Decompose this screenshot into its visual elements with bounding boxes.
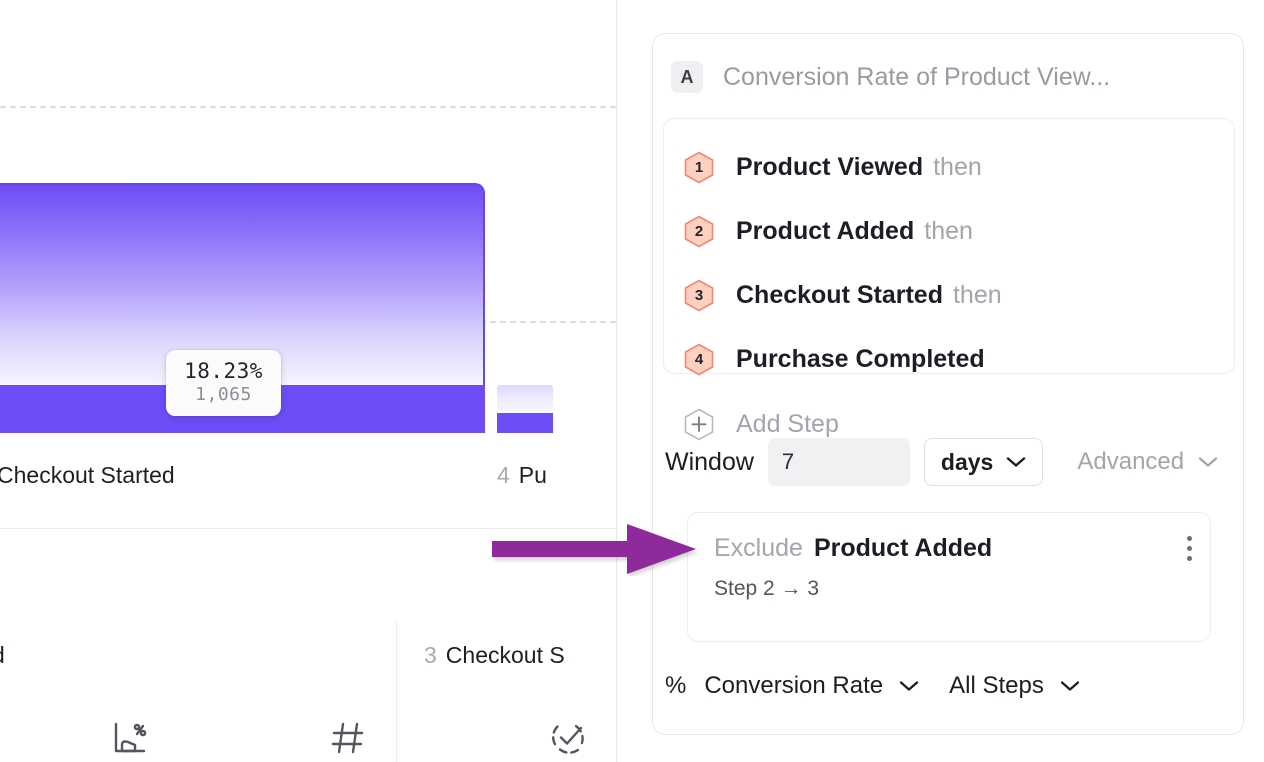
x-axis-label-index: 4 — [497, 462, 510, 488]
exclude-rule-header: Exclude Product Added — [688, 513, 1210, 583]
funnel-step-1[interactable]: 1 Product Viewed then — [664, 135, 1234, 199]
chevron-down-icon — [899, 680, 919, 692]
pane-divider — [616, 0, 617, 762]
funnel-chart-pane: 18.23% 1,065 Checkout Started 4Pu d 3Che… — [0, 0, 616, 762]
metric-select[interactable]: Conversion Rate — [704, 672, 919, 700]
step-event-name: Checkout Started — [736, 281, 943, 310]
annotation-arrow — [492, 522, 700, 576]
conversion-window-row: Window days Advanced — [665, 438, 1218, 486]
lower-card-index: 3 — [424, 642, 437, 668]
window-unit-select[interactable]: days — [924, 438, 1043, 486]
funnel-config-panel: A Conversion Rate of Product View... 1 P… — [652, 33, 1244, 735]
step-number: 2 — [684, 215, 714, 248]
x-axis-label-text: Pu — [519, 462, 547, 488]
app-screen: 18.23% 1,065 Checkout Started 4Pu d 3Che… — [0, 0, 1264, 762]
gridline-upper — [0, 106, 616, 108]
funnel-step-4[interactable]: 4 Purchase Completed — [664, 327, 1234, 391]
step-connector: then — [924, 217, 973, 246]
step-number: 3 — [684, 279, 714, 312]
advanced-toggle[interactable]: Advanced — [1077, 448, 1218, 476]
bar-solid-base — [497, 413, 553, 433]
step-event-name: Purchase Completed — [736, 345, 985, 374]
step-number-hexagon-icon: 4 — [684, 343, 714, 376]
exclude-rule-card[interactable]: Exclude Product Added Step 2 → 3 — [687, 512, 1211, 642]
window-value-input[interactable] — [768, 438, 910, 486]
bar-gradient-body — [497, 385, 553, 413]
funnel-step-3[interactable]: 3 Checkout Started then — [664, 263, 1234, 327]
lower-card-left-label: d — [0, 642, 5, 669]
panel-footer-controls: % Conversion Rate All Steps — [665, 672, 1080, 700]
percent-icon: % — [665, 672, 686, 700]
step-number-hexagon-icon: 2 — [684, 215, 714, 248]
step-number-hexagon-icon: 1 — [684, 151, 714, 184]
exclude-event-name: Product Added — [814, 534, 992, 563]
circle-check-icon[interactable] — [548, 716, 590, 762]
chart-percent-icon[interactable] — [110, 718, 150, 762]
funnel-steps-card: 1 Product Viewed then 2 Product Added th… — [663, 118, 1235, 374]
scope-value: All Steps — [949, 672, 1044, 700]
tooltip-percent: 18.23% — [184, 359, 263, 383]
funnel-step-2[interactable]: 2 Product Added then — [664, 199, 1234, 263]
metric-value: Conversion Rate — [704, 672, 883, 700]
step-connector: then — [953, 281, 1002, 310]
series-letter-badge: A — [671, 61, 703, 93]
chevron-down-icon — [1198, 456, 1218, 468]
funnel-bar-purchase-completed[interactable] — [497, 385, 553, 433]
lower-cards-divider — [396, 622, 397, 762]
advanced-label: Advanced — [1077, 448, 1184, 476]
exclude-keyword: Exclude — [714, 534, 803, 563]
panel-title[interactable]: Conversion Rate of Product View... — [723, 63, 1110, 92]
x-axis-label-checkout-started: Checkout Started — [0, 462, 175, 489]
kebab-menu-icon[interactable] — [1187, 536, 1192, 561]
step-connector: then — [933, 153, 982, 182]
panel-header: A Conversion Rate of Product View... — [653, 34, 1243, 120]
step-number-hexagon-icon: 3 — [684, 279, 714, 312]
exclude-step-range: Step 2 → 3 — [688, 577, 1210, 601]
window-label: Window — [665, 448, 754, 477]
scope-select[interactable]: All Steps — [949, 672, 1080, 700]
window-unit-value: days — [941, 449, 993, 476]
step-event-name: Product Added — [736, 217, 914, 246]
lower-card-right-label: 3Checkout S — [424, 642, 565, 669]
add-step-label: Add Step — [736, 410, 839, 439]
lower-card-name: Checkout S — [446, 642, 565, 668]
chart-tooltip: 18.23% 1,065 — [166, 350, 281, 416]
plus-hexagon-icon — [684, 408, 714, 441]
tooltip-count: 1,065 — [195, 383, 252, 406]
hash-icon[interactable] — [328, 718, 368, 762]
x-axis-label-text: Checkout Started — [0, 462, 175, 488]
x-axis-label-purchase-completed: 4Pu — [497, 462, 547, 489]
step-event-name: Product Viewed — [736, 153, 923, 182]
step-number: 1 — [684, 151, 714, 184]
step-number: 4 — [684, 343, 714, 376]
chevron-down-icon — [1006, 456, 1026, 468]
chevron-down-icon — [1060, 680, 1080, 692]
